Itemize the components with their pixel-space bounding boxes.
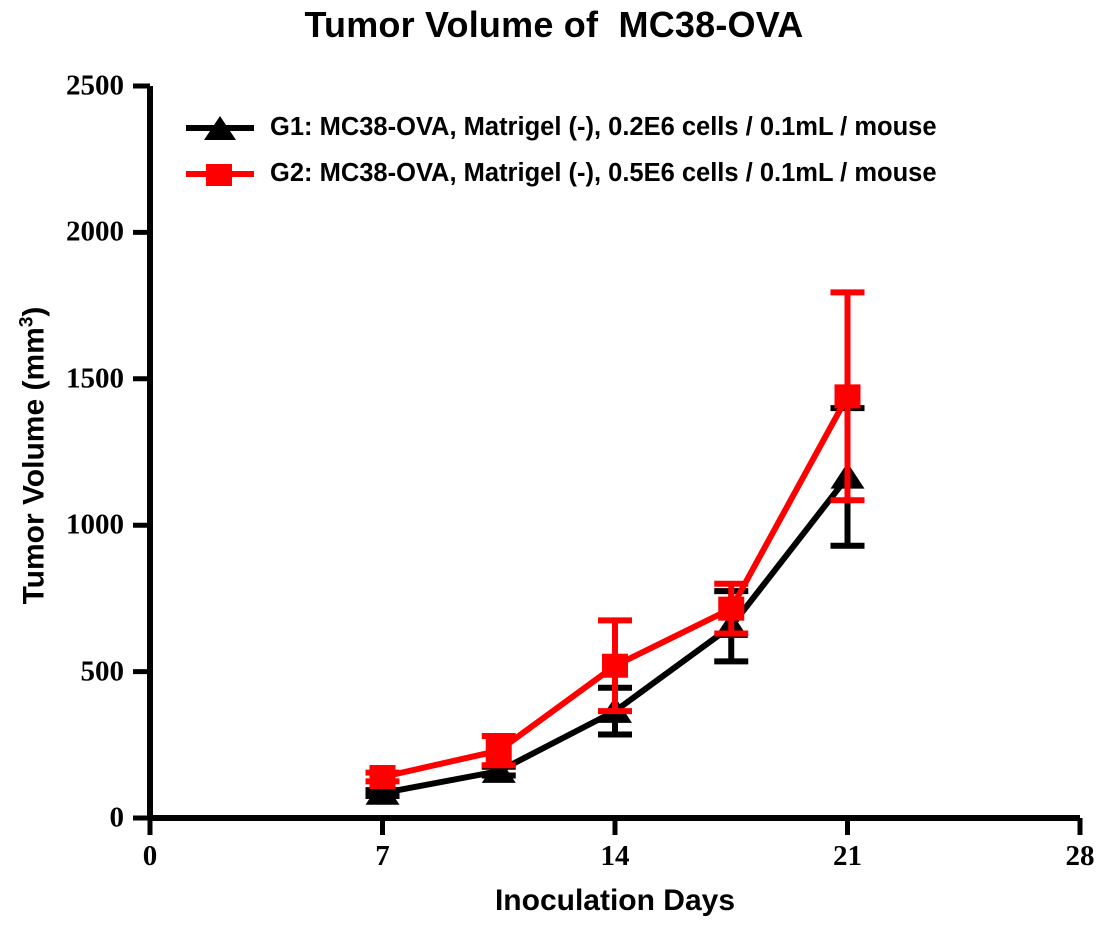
x-tick-label: 21 [833,840,862,873]
chart-canvas: Tumor Volume of MC38-OVA Tumor Volume (m… [0,0,1108,933]
series-g1 [366,408,865,805]
y-tick-label: 2500 [0,70,124,103]
x-tick-label: 0 [143,840,158,873]
data-point-square[interactable] [718,597,744,621]
data-point-square[interactable] [835,384,861,408]
x-tick-label: 7 [375,840,390,873]
y-tick-label: 2000 [0,216,124,249]
x-tick-label: 28 [1066,840,1095,873]
y-tick-label: 500 [0,655,124,688]
data-point-square[interactable] [370,765,396,789]
y-tick-label: 0 [0,802,124,835]
x-tick-label: 14 [601,840,630,873]
y-tick-label: 1000 [0,509,124,542]
data-point-square[interactable] [602,654,628,678]
plot-area [0,0,1108,933]
y-tick-label: 1500 [0,362,124,395]
data-point-square[interactable] [486,739,512,763]
